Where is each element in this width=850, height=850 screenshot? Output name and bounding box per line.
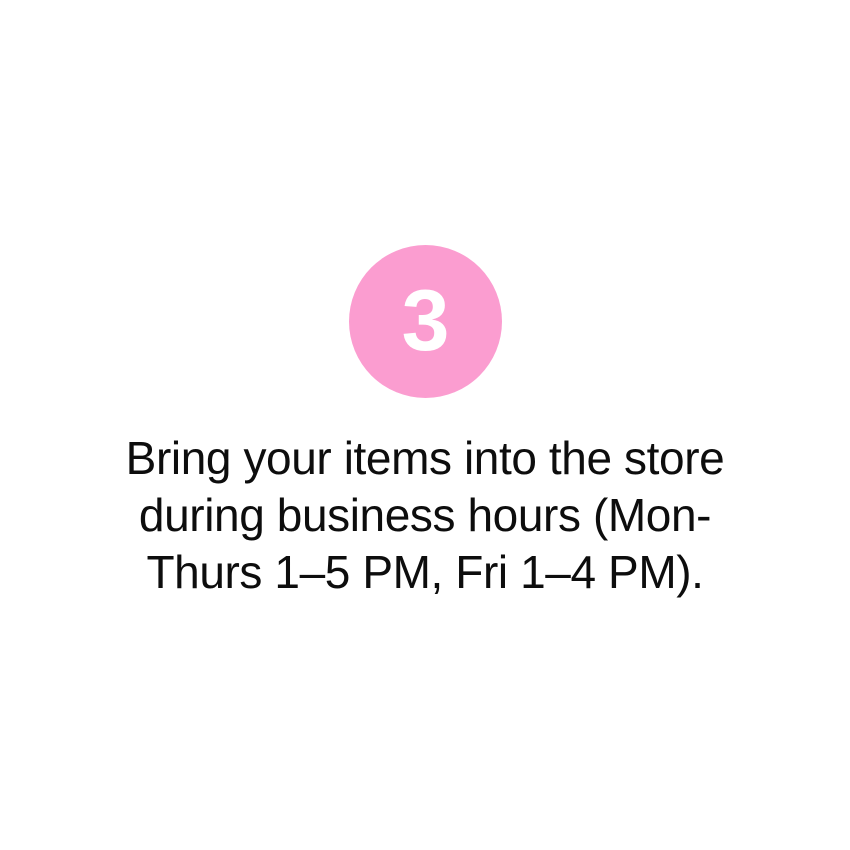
step-badge-container: 3 (0, 245, 850, 398)
step-instruction-card: 3 Bring your items into the store during… (0, 0, 850, 850)
step-description-text: Bring your items into the store during b… (40, 430, 810, 601)
step-description-container: Bring your items into the store during b… (40, 430, 810, 601)
step-number-badge-icon: 3 (349, 245, 502, 398)
step-number-label: 3 (402, 278, 449, 364)
